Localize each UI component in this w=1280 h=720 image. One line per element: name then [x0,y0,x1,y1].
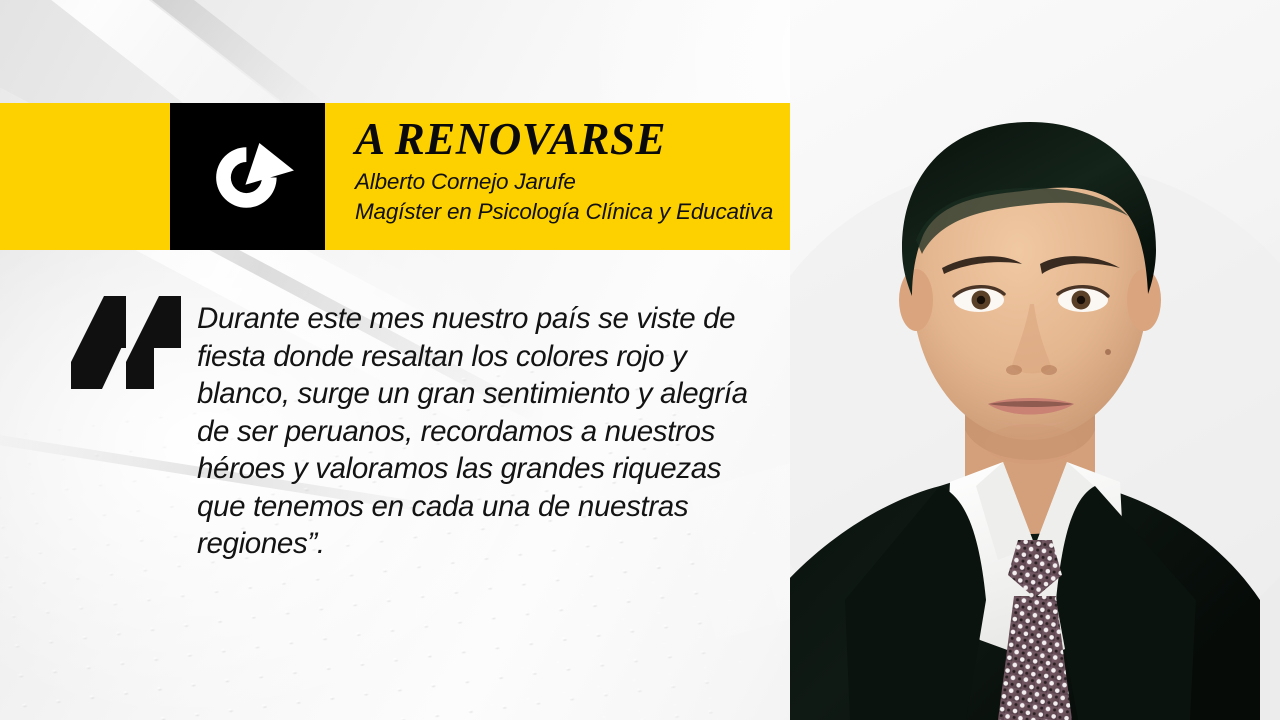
header-banner: A RENOVARSE Alberto Cornejo Jarufe Magís… [0,103,795,250]
poster-canvas: A RENOVARSE Alberto Cornejo Jarufe Magís… [0,0,1280,720]
quote-line: fiesta donde resaltan los colores rojo y [197,338,797,376]
author-name: Alberto Cornejo Jarufe [355,167,791,197]
logo-container [170,103,325,250]
open-quotation-mark-icon [68,292,188,392]
quote-line: Durante este mes nuestro país se viste d… [197,300,797,338]
quote-line: de ser peruanos, recordamos a nuestros [197,413,797,451]
quote-line: que tenemos en cada una de nuestras [197,488,797,526]
quote-line: regiones”. [197,525,797,563]
circular-arrow-logo-icon [194,123,302,231]
quote-paragraph: Durante este mes nuestro país se viste d… [197,300,797,563]
page-title: A RENOVARSE [355,111,791,167]
portrait-photo [790,0,1280,720]
banner-text-block: A RENOVARSE Alberto Cornejo Jarufe Magís… [355,111,791,227]
quote-line: blanco, surge un gran sentimiento y aleg… [197,375,797,413]
author-credential: Magíster en Psicología Clínica y Educati… [355,197,791,227]
quote-line: héroes y valoramos las grandes riquezas [197,450,797,488]
